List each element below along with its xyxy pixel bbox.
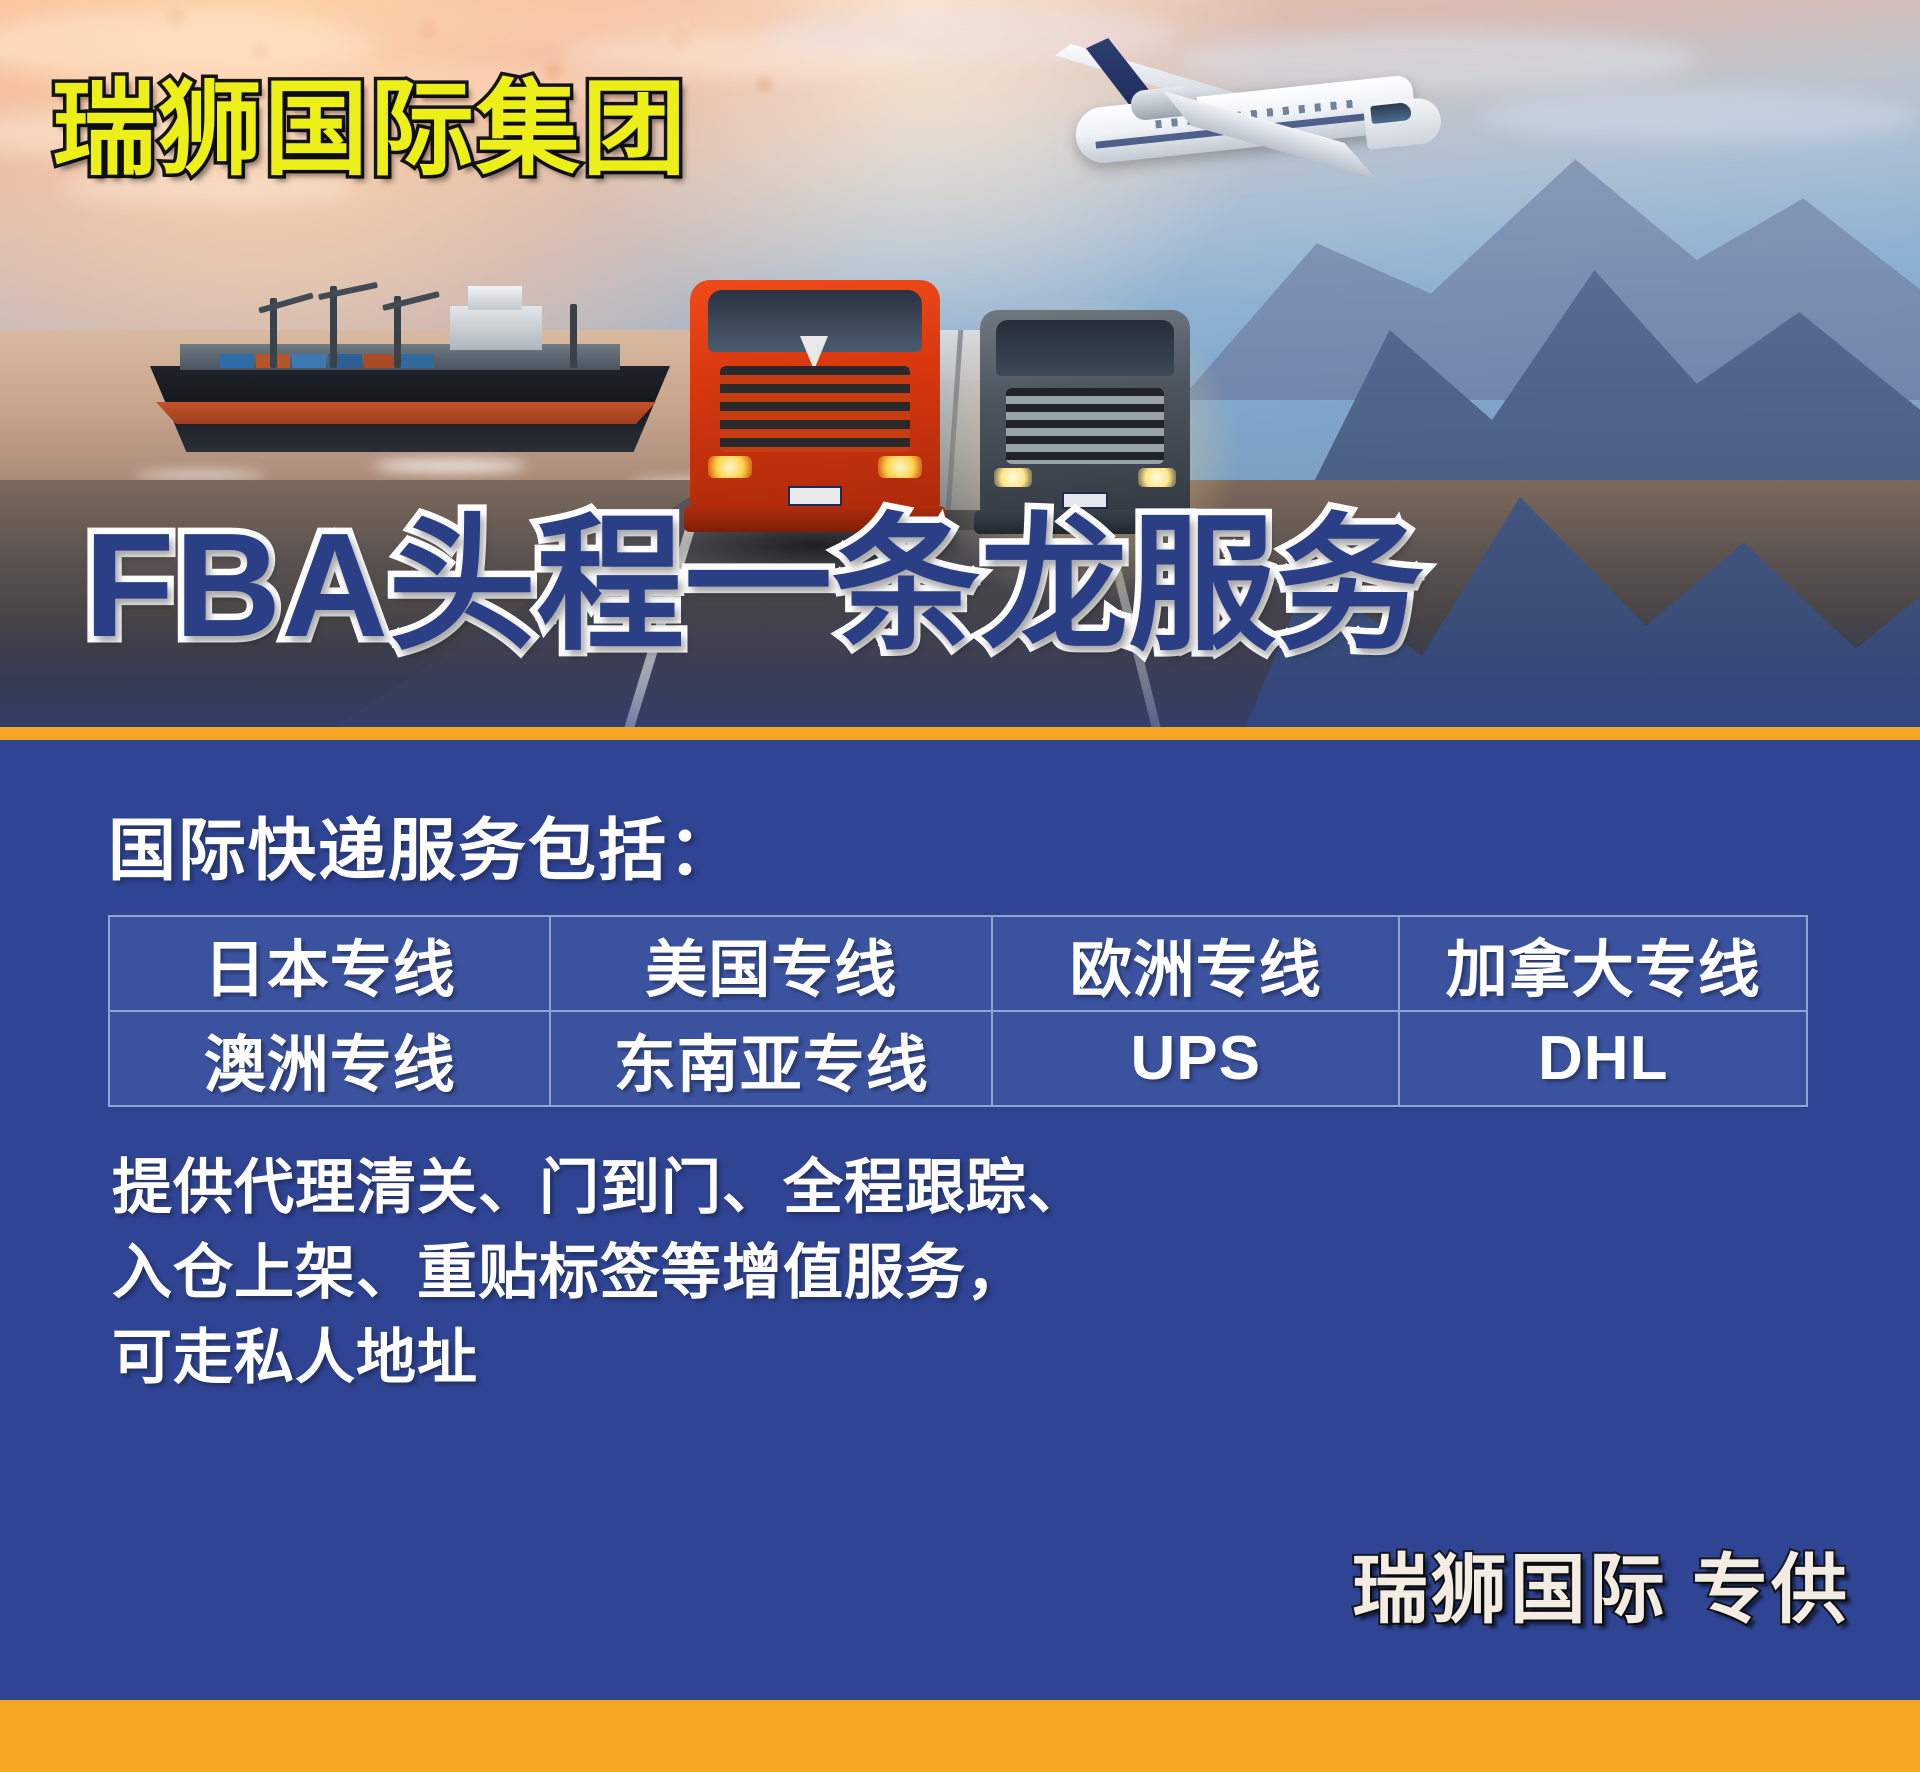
service-cell-sea: 东南亚专线 — [550, 1011, 991, 1106]
service-cell-ca: 加拿大专线 — [1399, 916, 1807, 1011]
description-line-2: 入仓上架、重贴标签等增值服务， — [112, 1230, 1088, 1315]
brand-logo-text: 瑞狮国际集团 — [52, 78, 688, 182]
services-panel: 国际快递服务包括： 日本专线 美国专线 欧洲专线 加拿大专线 澳洲专线 东南亚专… — [0, 740, 1920, 1700]
panel-title: 国际快递服务包括： — [108, 795, 738, 894]
footer-stamp: 瑞狮国际 专供 — [1352, 1528, 1850, 1638]
description-line-1: 提供代理清关、门到门、全程跟踪、 — [112, 1145, 1088, 1230]
promo-poster: 瑞狮国际集团 FBA头程一条龙服务 国际快递服务包括： 日本专线 美国专线 欧洲… — [0, 0, 1920, 1772]
hero-headline: FBA头程一条龙服务 — [84, 512, 1424, 660]
airplane-icon — [1035, 30, 1445, 220]
cloud-icon — [1480, 90, 1920, 144]
table-row: 澳洲专线 东南亚专线 UPS DHL — [109, 1011, 1807, 1106]
table-row: 日本专线 美国专线 欧洲专线 加拿大专线 — [109, 916, 1807, 1011]
gold-divider — [0, 727, 1920, 740]
service-table: 日本专线 美国专线 欧洲专线 加拿大专线 澳洲专线 东南亚专线 UPS DHL — [108, 915, 1808, 1107]
cargo-ship-icon — [150, 280, 670, 460]
description-line-3: 可走私人地址 — [112, 1315, 1088, 1400]
service-cell-jp: 日本专线 — [109, 916, 550, 1011]
service-cell-us: 美国专线 — [550, 916, 991, 1011]
service-cell-eu: 欧洲专线 — [992, 916, 1400, 1011]
service-cell-au: 澳洲专线 — [109, 1011, 550, 1106]
service-cell-dhl: DHL — [1399, 1011, 1807, 1106]
bottom-accent-bar — [0, 1700, 1920, 1772]
service-cell-ups: UPS — [992, 1011, 1400, 1106]
description-block: 提供代理清关、门到门、全程跟踪、 入仓上架、重贴标签等增值服务， 可走私人地址 — [112, 1145, 1088, 1401]
